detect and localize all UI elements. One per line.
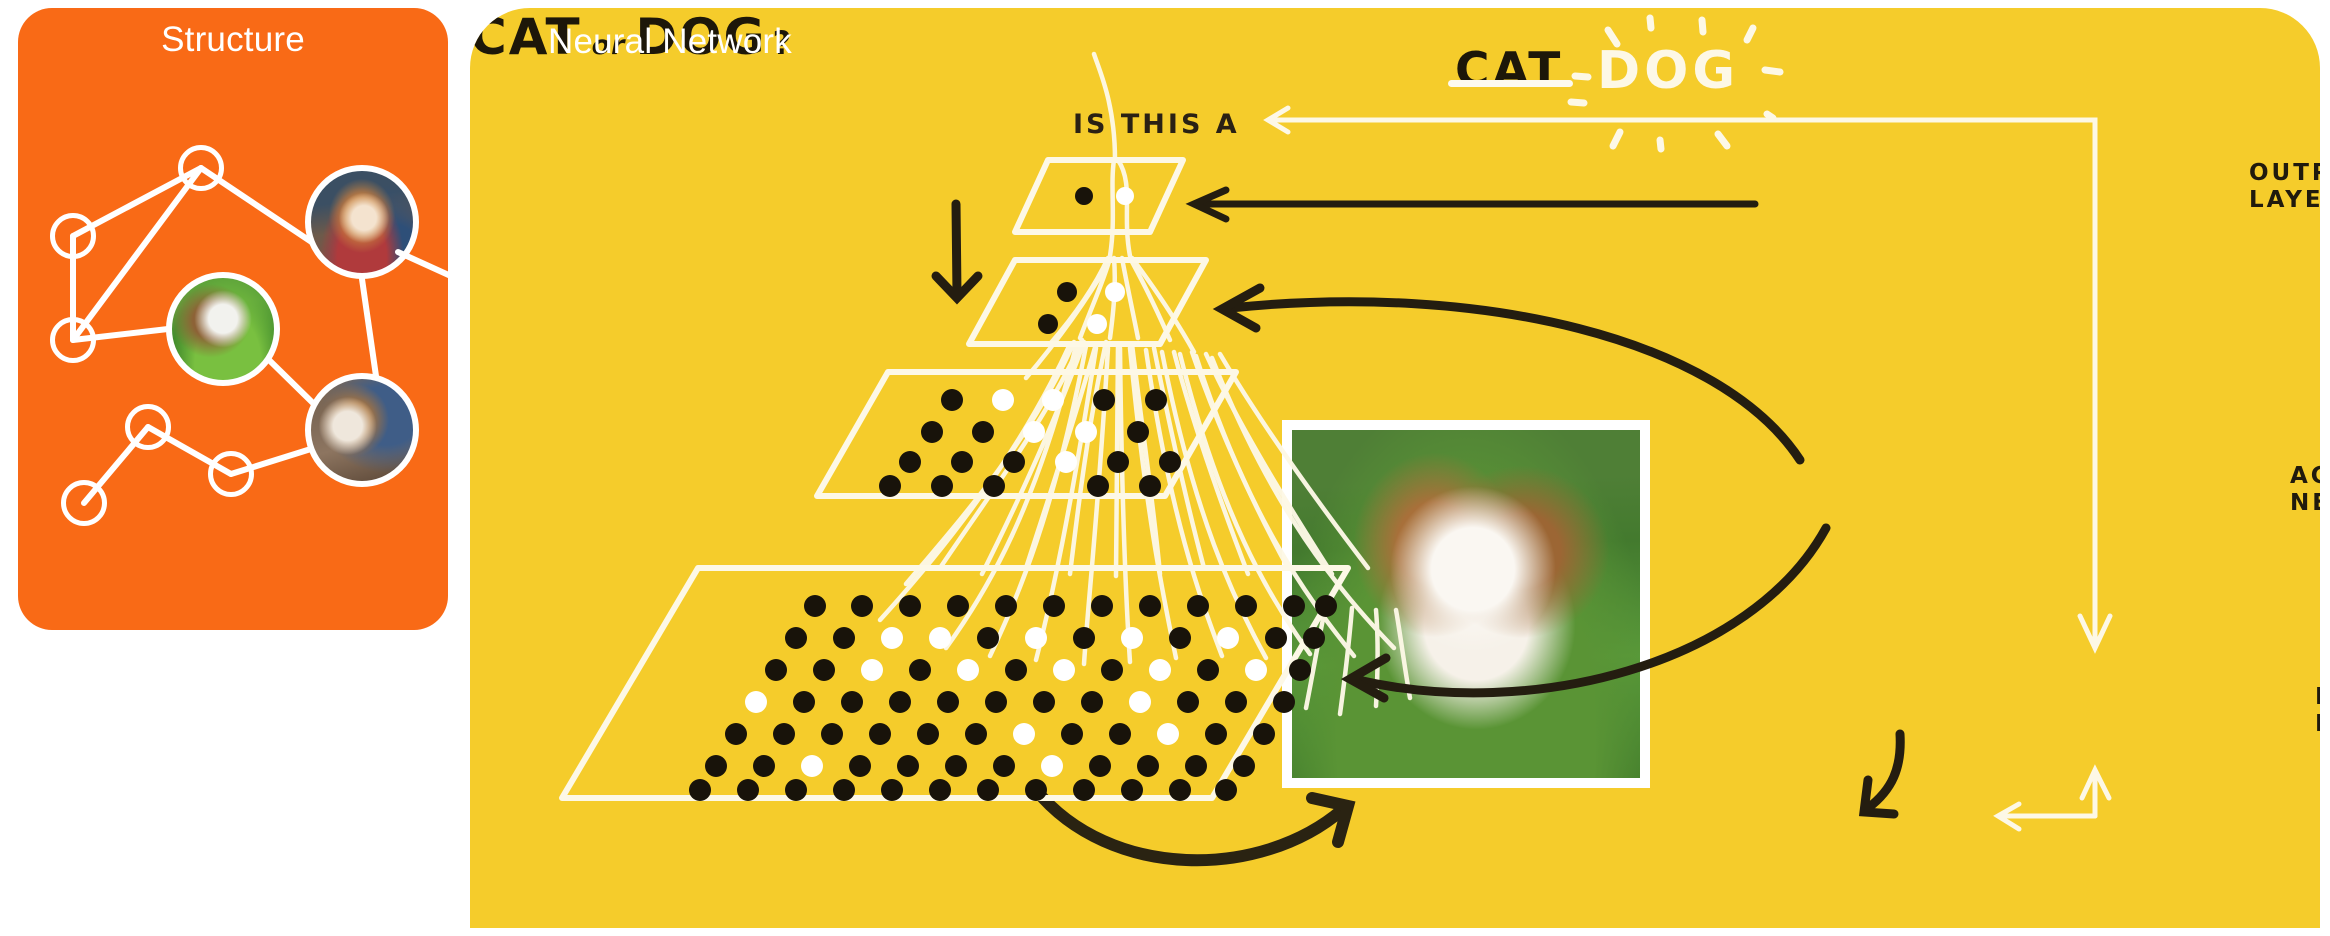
structure-panel: Structure — [18, 8, 448, 630]
graph-node-3[interactable] — [50, 317, 96, 363]
neural-network-panel: Neural Network IS THIS A CATorDOG? CAT D… — [470, 8, 2320, 928]
graph-photo-node-bulldog-puppy-sitting[interactable] — [305, 373, 419, 487]
activated-neurons-label-line1: ACTIVATED — [2290, 463, 2320, 490]
input-layer-pointer-arrow-icon — [1864, 734, 1900, 814]
graph-node-1[interactable] — [178, 145, 224, 191]
infographic-canvas: Structure — [0, 0, 2330, 936]
input-layer-label: INPUT LAYER — [2315, 684, 2320, 738]
graph-node-2[interactable] — [50, 213, 96, 259]
input-layer-label-line1: INPUT — [2315, 684, 2320, 711]
activated-neurons-label-line2: NEURONS — [2290, 490, 2320, 517]
output-layer-label: OUTPUT LAYER — [2249, 160, 2320, 214]
activated-neurons-pointer-arrow-lower-icon — [1350, 528, 1826, 698]
output-layer-neurons — [1075, 187, 1134, 205]
activated-neurons-label: ACTIVATED NEURONS — [2290, 463, 2320, 517]
graph-node-5[interactable] — [61, 480, 107, 526]
network-pyramid-diagram — [470, 8, 2320, 928]
graph-node-4[interactable] — [125, 404, 171, 450]
output-layer-pointer-arrow-icon — [1194, 190, 1755, 219]
output-layer-label-line1: OUTPUT — [2249, 160, 2320, 187]
graph-photo-node-bulldog-on-grass[interactable] — [166, 272, 280, 386]
activated-neurons-pointer-arrow-upper-icon — [1222, 288, 1800, 460]
input-layer-label-line2: LAYER — [2315, 711, 2320, 738]
input-layer-neurons — [689, 595, 1337, 801]
deep-network-bracket — [1268, 108, 2110, 829]
graph-photo-node-bulldog-on-mat[interactable] — [305, 165, 419, 279]
graph-node-6[interactable] — [208, 451, 254, 497]
output-layer-label-line2: LAYER — [2249, 187, 2320, 214]
